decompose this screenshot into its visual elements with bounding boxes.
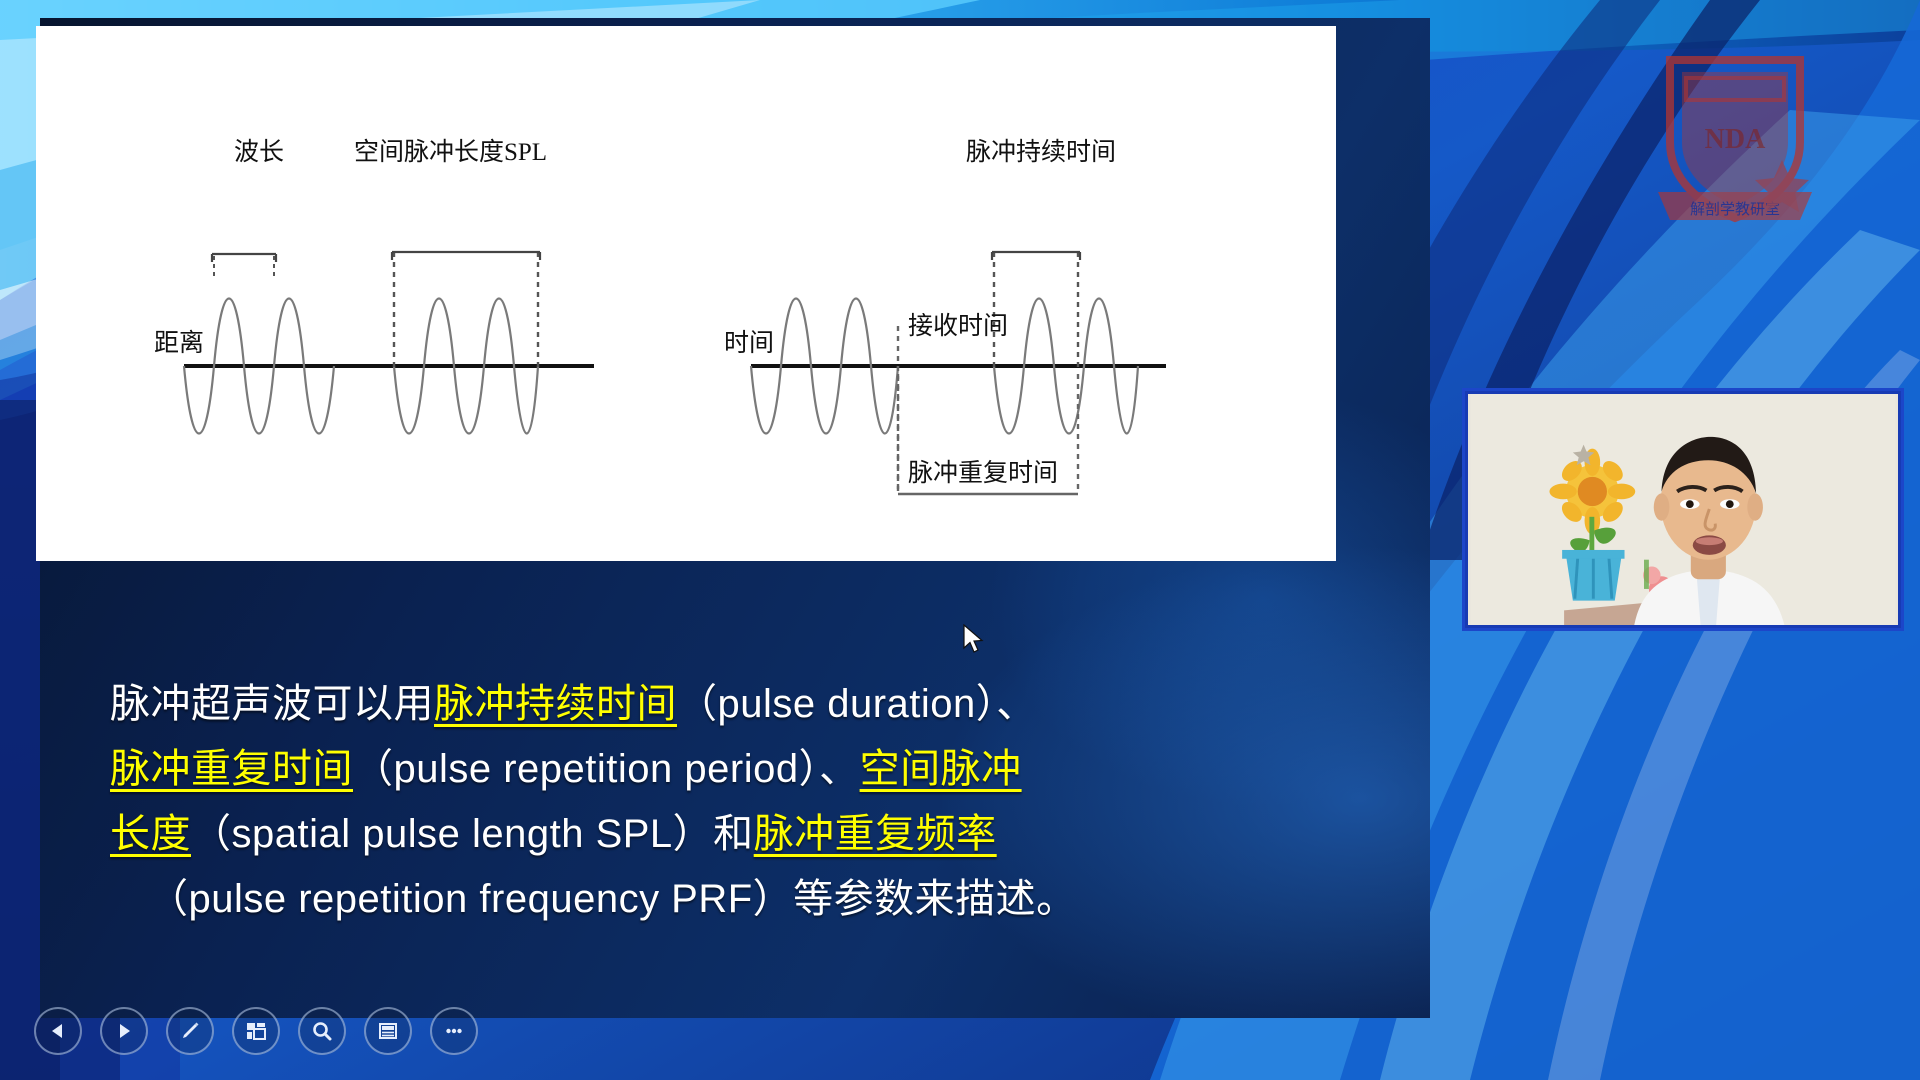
previous-slide-button[interactable] (34, 1007, 82, 1055)
body-line-1: 脉冲超声波可以用脉冲持续时间（pulse duration）、 (110, 672, 1380, 737)
webcam-video (1468, 394, 1898, 625)
label-spl: 空间脉冲长度SPL (354, 138, 547, 166)
layout-button[interactable] (232, 1007, 280, 1055)
highlight-pulse-repetition-period: 脉冲重复时间 (110, 747, 353, 791)
label-pulse-duration: 脉冲持续时间 (966, 138, 1116, 166)
text-segment: （pulse duration）、 (677, 682, 1037, 726)
body-line-2: 脉冲重复时间（pulse repetition period）、空间脉冲 (110, 737, 1380, 802)
pen-tool-button[interactable] (166, 1007, 214, 1055)
highlight-prf: 脉冲重复频率 (754, 812, 997, 856)
label-wavelength: 波长 (234, 138, 284, 166)
slide-body-text: 脉冲超声波可以用脉冲持续时间（pulse duration）、 脉冲重复时间（p… (110, 672, 1380, 932)
diagram-card: 距离 波长 空间脉冲长度SPL 时间 接收时间 脉冲重复时间 脉冲持续时间 (36, 26, 1336, 561)
ultrasound-pulse-diagram: 距离 波长 空间脉冲长度SPL 时间 接收时间 脉冲重复时间 脉冲持续时间 (36, 26, 1336, 561)
presenter-video-frame (1468, 394, 1898, 625)
institution-logo: NDA 解剖学教研室 (1650, 42, 1820, 232)
ellipsis-icon (443, 1020, 465, 1042)
logo-text-main: NDA (1705, 124, 1766, 155)
next-slide-button[interactable] (100, 1007, 148, 1055)
label-time-axis: 时间 (724, 329, 774, 357)
text-segment: （spatial pulse length SPL）和 (191, 812, 754, 856)
more-options-button[interactable] (430, 1007, 478, 1055)
text-segment: （pulse repetition period）、 (353, 747, 860, 791)
presenter-webcam[interactable] (1462, 388, 1904, 631)
layout-icon (245, 1020, 267, 1042)
notes-button[interactable] (364, 1007, 412, 1055)
text-segment: 脉冲超声波可以用 (110, 682, 434, 726)
pen-icon (178, 1019, 202, 1043)
label-pulse-repetition-time: 脉冲重复时间 (908, 459, 1058, 487)
highlight-spatial-pulse-b: 长度 (110, 812, 191, 856)
label-distance-axis: 距离 (154, 329, 204, 357)
highlight-spatial-pulse-a: 空间脉冲 (860, 747, 1022, 791)
body-line-4: （pulse repetition frequency PRF）等参数来描述。 (110, 867, 1380, 932)
magnifier-icon (311, 1020, 333, 1042)
label-receive-time: 接收时间 (908, 312, 1008, 340)
notes-icon (377, 1020, 399, 1042)
mouse-cursor (963, 624, 985, 656)
text-segment: （pulse repetition frequency PRF）等参数来描述。 (148, 877, 1077, 921)
highlight-pulse-duration: 脉冲持续时间 (434, 682, 677, 726)
triangle-right-icon (114, 1021, 134, 1041)
triangle-left-icon (48, 1021, 68, 1041)
body-line-3: 长度（spatial pulse length SPL）和脉冲重复频率 (110, 802, 1380, 867)
presentation-toolbar[interactable] (34, 1004, 478, 1058)
zoom-button[interactable] (298, 1007, 346, 1055)
